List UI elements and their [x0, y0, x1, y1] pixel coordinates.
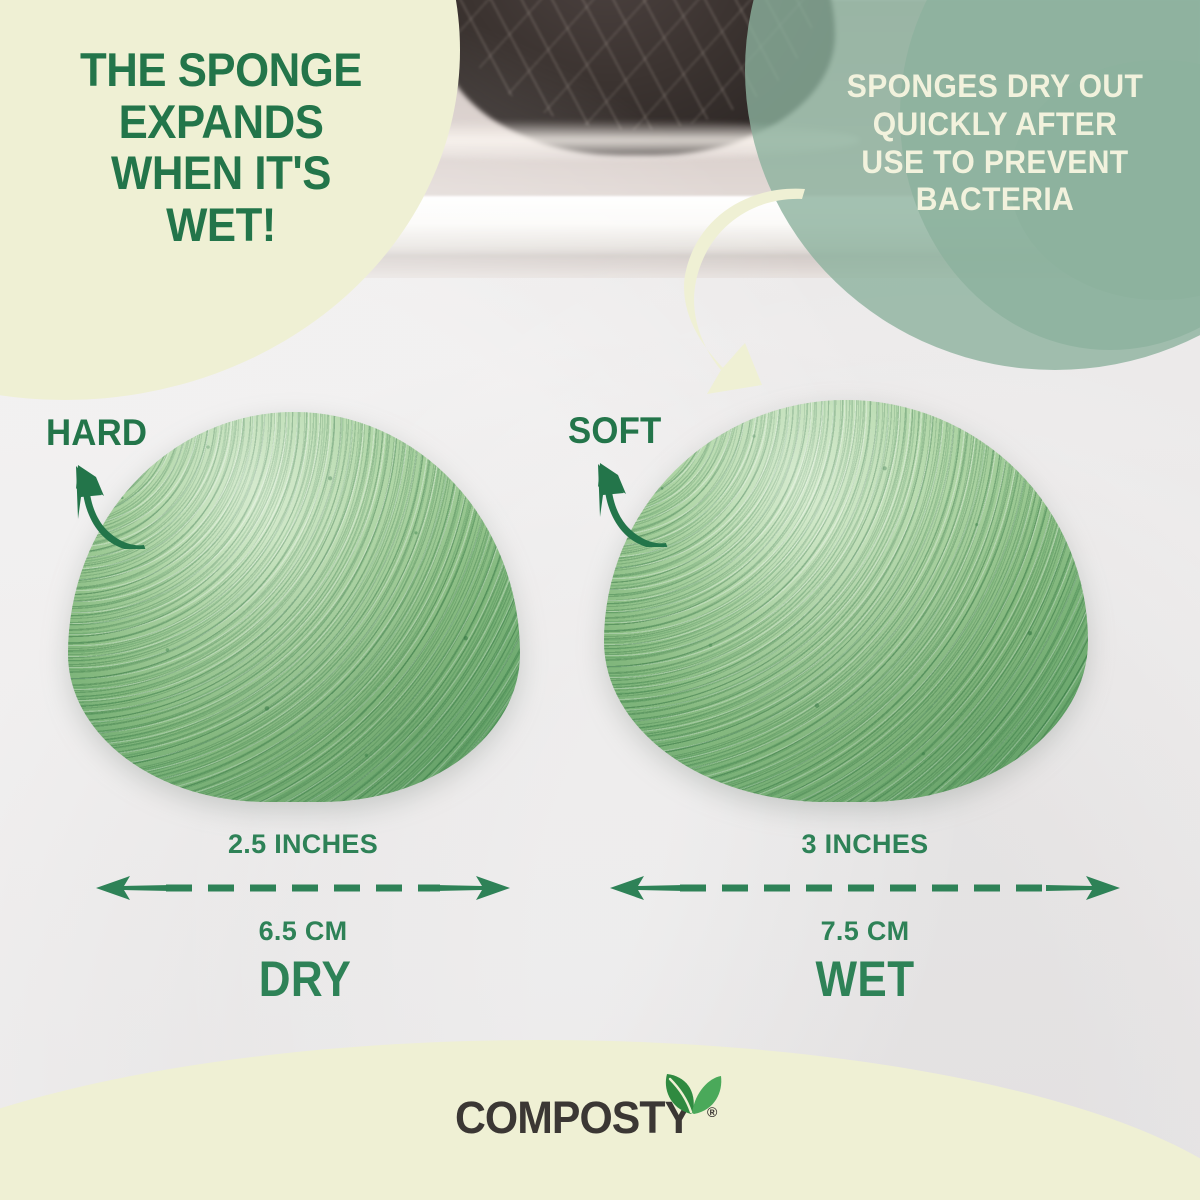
infographic-poster: THE SPONGE EXPANDS WHEN iT'S WET! Sponge…	[0, 0, 1200, 1200]
wet-sponge-image	[604, 400, 1088, 802]
curved-arrow-down-icon	[655, 185, 835, 395]
brand-logo: COMPOSTY ®	[455, 1078, 745, 1152]
dimension-group-wet: 3 INCHES 7.5 CM	[600, 830, 1130, 946]
callout-label-hard: HARD	[46, 412, 147, 454]
sage-line-2: quickly after	[840, 106, 1150, 144]
page-title: THE SPONGE EXPANDS WHEN iT'S WET!	[49, 44, 393, 251]
dry-inches-label: 2.5 INCHES	[78, 830, 528, 860]
state-label-dry: DRY	[177, 950, 432, 1008]
wet-dimension-ruler-icon	[600, 866, 1130, 910]
dimension-group-dry: 2.5 INCHES 6.5 CM	[78, 830, 528, 946]
sage-line-3: use to prevent	[840, 144, 1150, 182]
wet-inches-label: 3 INCHES	[600, 830, 1130, 860]
logo-wordmark: COMPOSTY	[455, 1092, 692, 1144]
sage-line-4: bacteria	[840, 181, 1150, 219]
curved-arrow-up-left-icon	[580, 461, 672, 547]
headline-line-2: EXPANDS	[49, 96, 393, 148]
dry-dimension-ruler-icon	[78, 866, 528, 910]
dry-cm-label: 6.5 CM	[78, 917, 528, 947]
state-label-wet: WET	[737, 950, 992, 1008]
sage-line-1: Sponges dry out	[840, 68, 1150, 106]
wet-sponge-texture	[604, 400, 1088, 802]
headline-line-1: THE SPONGE	[49, 44, 393, 96]
wet-cm-label: 7.5 CM	[600, 917, 1130, 947]
headline-line-4: WET!	[49, 199, 393, 251]
curved-arrow-up-left-icon	[58, 463, 150, 549]
callout-label-soft: SOFT	[568, 410, 662, 452]
headline-line-3: WHEN iT'S	[49, 147, 393, 199]
registered-trademark-symbol: ®	[707, 1104, 717, 1120]
sage-panel-text: Sponges dry out quickly after use to pre…	[840, 68, 1150, 219]
